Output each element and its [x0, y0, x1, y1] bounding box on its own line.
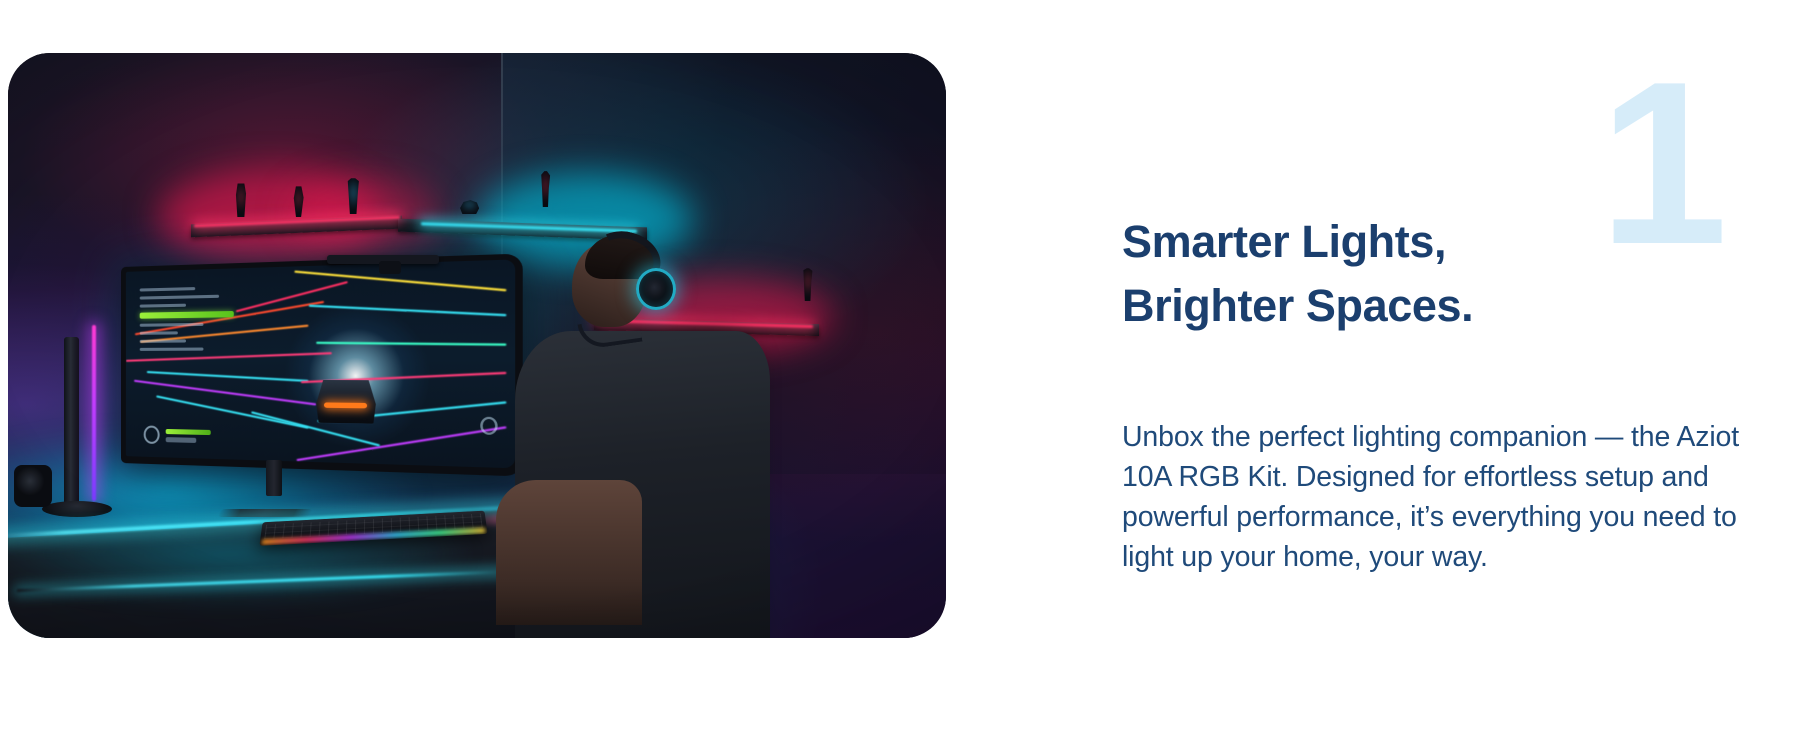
media-panel — [8, 53, 946, 638]
game-hud-objectives — [139, 285, 247, 355]
onboarding-slide: 1 Smarter Lights, Brighter Spaces. Unbox… — [0, 0, 1800, 738]
monitor-screen — [125, 259, 514, 468]
webcam — [327, 255, 440, 264]
monitor-stand-column — [266, 460, 282, 496]
desk-camera-device — [14, 465, 52, 507]
game-hud-speedometer — [143, 425, 210, 445]
game-race-car — [316, 379, 376, 423]
content-panel: 1 Smarter Lights, Brighter Spaces. Unbox… — [1118, 0, 1800, 738]
ultrawide-monitor — [121, 253, 523, 476]
monitor-arm-pole — [64, 337, 79, 513]
page-title: Smarter Lights, Brighter Spaces. — [1122, 210, 1682, 338]
headline-line-2: Brighter Spaces. — [1122, 274, 1682, 338]
body-paragraph: Unbox the perfect lighting companion — t… — [1122, 418, 1762, 578]
headline-line-1: Smarter Lights, — [1122, 210, 1682, 274]
game-hud-minimap — [480, 416, 497, 434]
seated-gamer — [496, 211, 815, 638]
gamer-arm — [496, 480, 643, 625]
webcam-lens — [379, 261, 401, 274]
monitor-stand-base — [217, 509, 313, 517]
rgb-light-strip-violet — [92, 325, 96, 501]
headset-earcup — [636, 268, 676, 310]
gaming-setup-photo — [8, 53, 946, 638]
monitor-arm-base — [42, 501, 112, 517]
